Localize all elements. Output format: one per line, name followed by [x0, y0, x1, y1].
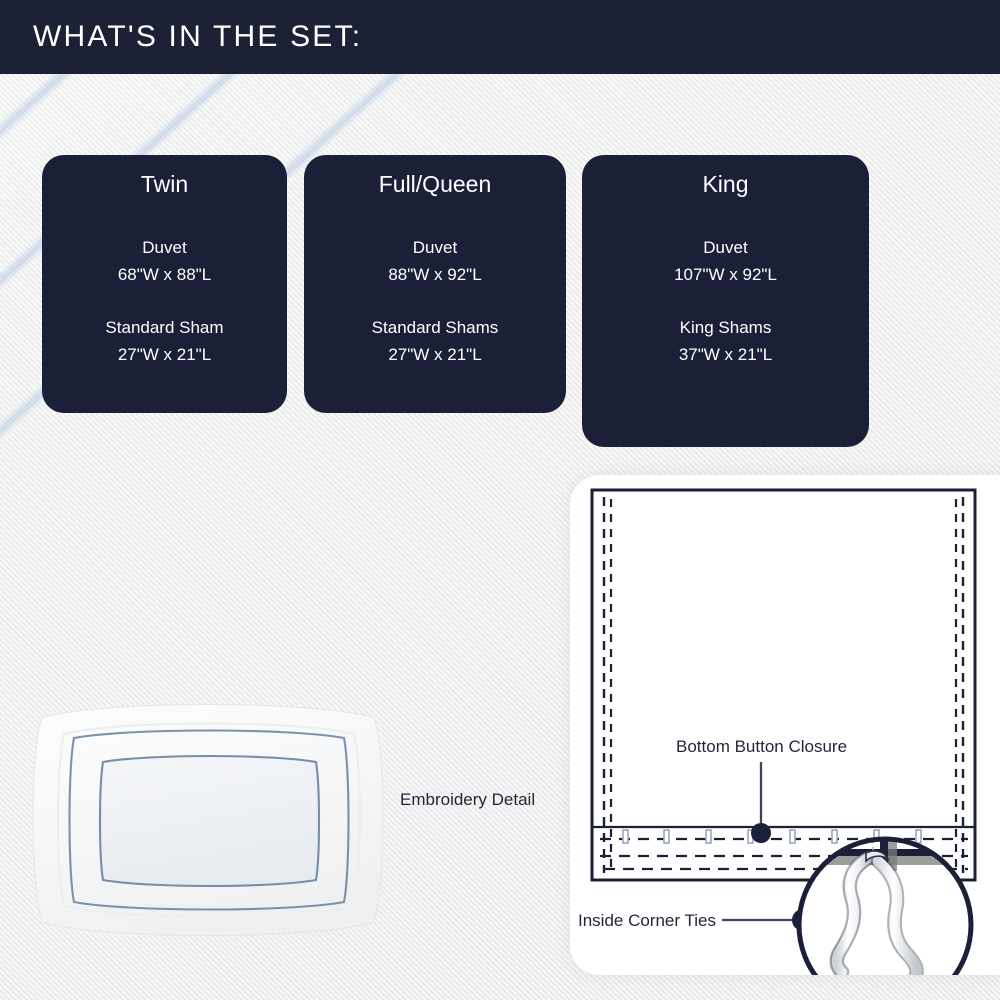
size-card-king: King Duvet 107"W x 92"L King Shams 37"W … — [582, 155, 869, 447]
item-size: 27"W x 21"L — [314, 341, 556, 368]
item-name: King Shams — [592, 314, 859, 341]
infographic-canvas: WHAT'S IN THE SET: Twin Duvet 68"W x 88"… — [0, 0, 1000, 1000]
item-size: 37"W x 21"L — [592, 341, 859, 368]
embroidery-detail-label: Embroidery Detail — [400, 790, 535, 810]
size-card-entry: Duvet 88"W x 92"L — [314, 234, 556, 288]
item-name: Standard Shams — [314, 314, 556, 341]
size-card-title: King — [592, 171, 859, 198]
item-name: Duvet — [52, 234, 277, 261]
pillow-sham-photo — [18, 672, 398, 962]
size-card-row: Twin Duvet 68"W x 88"L Standard Sham 27"… — [0, 155, 1000, 447]
bottom-button-closure-label: Bottom Button Closure — [676, 737, 847, 757]
size-card-title: Full/Queen — [314, 171, 556, 198]
duvet-diagram-panel — [570, 475, 1000, 975]
item-size: 88"W x 92"L — [314, 261, 556, 288]
item-name: Standard Sham — [52, 314, 277, 341]
size-card-title: Twin — [52, 171, 277, 198]
size-card-twin: Twin Duvet 68"W x 88"L Standard Sham 27"… — [42, 155, 287, 413]
size-card-entry: Standard Shams 27"W x 21"L — [314, 314, 556, 368]
inside-corner-ties-label: Inside Corner Ties — [578, 911, 716, 931]
size-card-entry: Standard Sham 27"W x 21"L — [52, 314, 277, 368]
sham-svg — [18, 672, 398, 962]
size-card-entry: King Shams 37"W x 21"L — [592, 314, 859, 368]
item-name: Duvet — [314, 234, 556, 261]
bottom-button-marker — [751, 823, 771, 843]
size-card-entry: Duvet 107"W x 92"L — [592, 234, 859, 288]
item-name: Duvet — [592, 234, 859, 261]
page-title: WHAT'S IN THE SET: — [0, 20, 362, 54]
size-card-full-queen: Full/Queen Duvet 88"W x 92"L Standard Sh… — [304, 155, 566, 413]
item-size: 68"W x 88"L — [52, 261, 277, 288]
size-card-entry: Duvet 68"W x 88"L — [52, 234, 277, 288]
duvet-diagram-svg — [570, 475, 1000, 975]
header-bar: WHAT'S IN THE SET: — [0, 0, 1000, 74]
item-size: 107"W x 92"L — [592, 261, 859, 288]
item-size: 27"W x 21"L — [52, 341, 277, 368]
